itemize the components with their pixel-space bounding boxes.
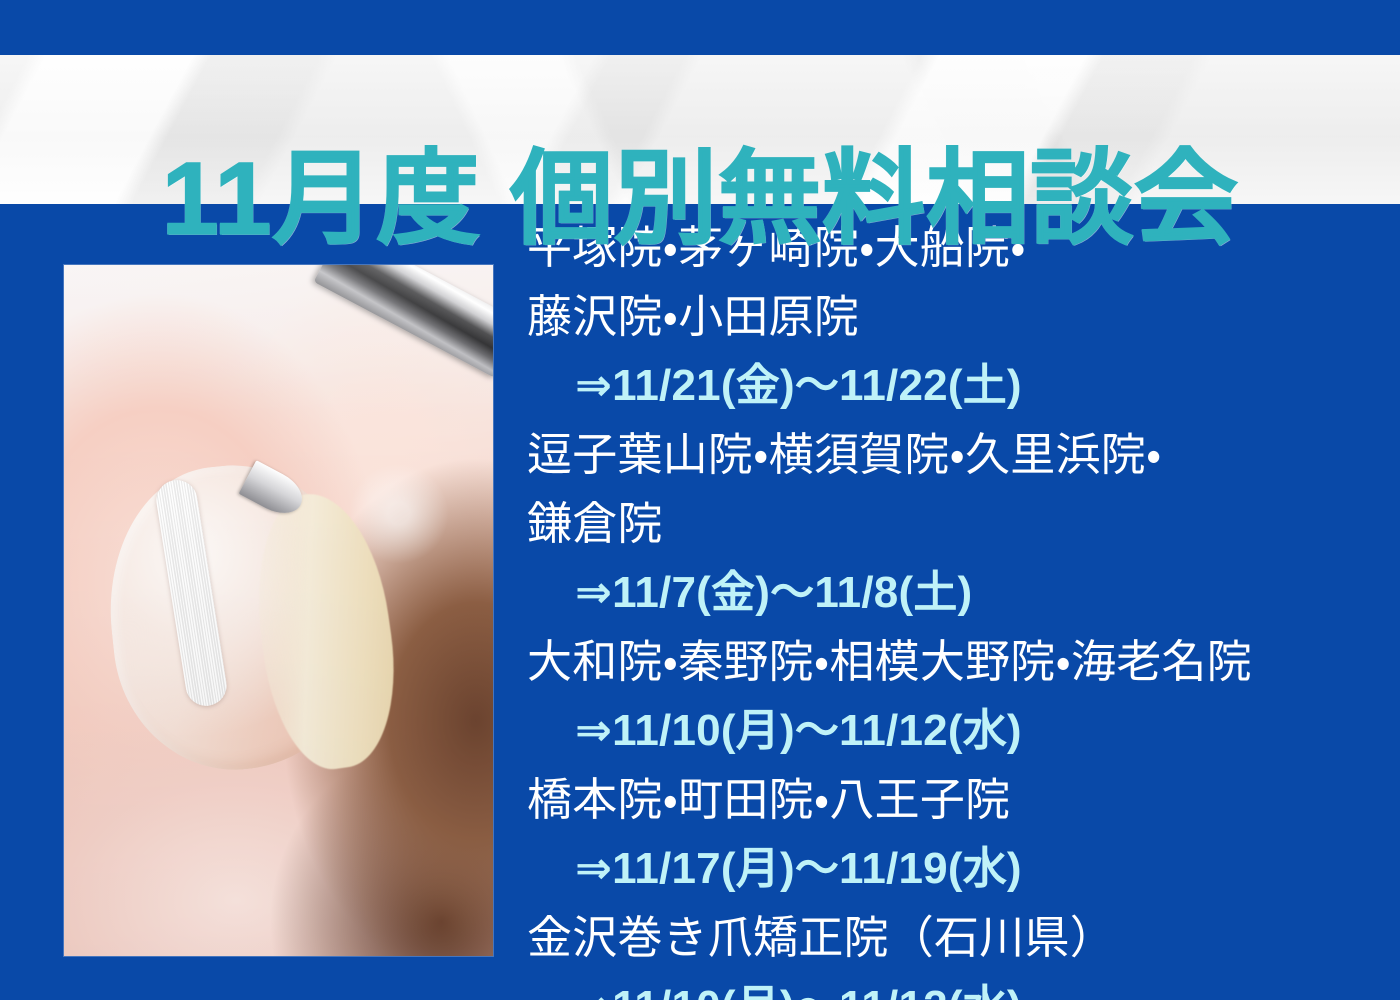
- list-item-date: ⇒11/10(月)〜11/12(水): [527, 972, 1387, 1000]
- list-item: 金沢巻き爪矯正院（石川県）: [527, 903, 1387, 972]
- schedule-list: 平塚院・茅ヶ崎院・大船院・ 藤沢院・小田原院 ⇒11/21(金)〜11/22(土…: [527, 213, 1387, 1000]
- nail-correction-strip-photo: [64, 265, 493, 956]
- poster-root: 11月度 個別無料相談会 平塚院・茅ヶ崎院・大船院・ 藤沢院・小田原院 ⇒11/…: [0, 0, 1400, 1000]
- top-blue-band: [0, 0, 1400, 55]
- photo-background: [64, 265, 493, 956]
- list-item: 逗子葉山院・横須賀院・久里浜院・: [527, 420, 1387, 489]
- list-item-date: ⇒11/7(金)〜11/8(土): [527, 558, 1387, 627]
- list-item: 橋本院・町田院・八王子院: [527, 765, 1387, 834]
- poster-body: 平塚院・茅ヶ崎院・大船院・ 藤沢院・小田原院 ⇒11/21(金)〜11/22(土…: [0, 204, 1400, 1000]
- list-item: 鎌倉院: [527, 489, 1387, 558]
- list-item-date: ⇒11/21(金)〜11/22(土): [527, 351, 1387, 420]
- tweezers-icon: [314, 265, 493, 379]
- list-item-date: ⇒11/17(月)〜11/19(水): [527, 834, 1387, 903]
- list-item-date: ⇒11/10(月)〜11/12(水): [527, 696, 1387, 765]
- list-item: 大和院・秦野院・相模大野院・海老名院: [527, 627, 1387, 696]
- page-title: 11月度 個別無料相談会: [0, 124, 1400, 273]
- list-item: 藤沢院・小田原院: [527, 282, 1387, 351]
